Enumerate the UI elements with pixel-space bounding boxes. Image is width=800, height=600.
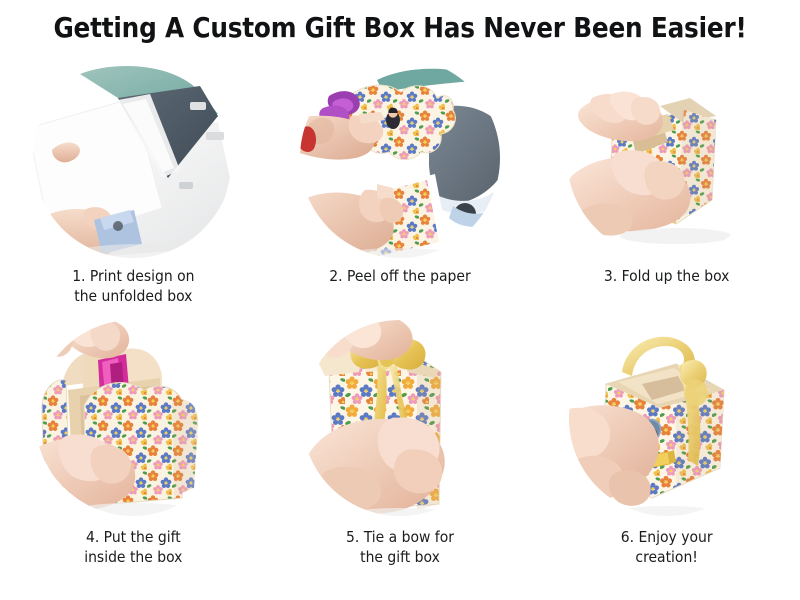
step-caption-3: 3. Fold up the box xyxy=(559,267,774,287)
step-card-6: 6. Enjoy your creation! xyxy=(533,320,800,582)
caption-line-2: creation! xyxy=(559,548,774,568)
caption-line-1: 2. Peel off the paper xyxy=(329,267,471,285)
step-card-5: 5. Tie a bow for the gift box xyxy=(267,320,534,582)
step-caption-2: 2. Peel off the paper xyxy=(292,267,507,287)
step-image-5 xyxy=(289,320,511,520)
caption-line-2: inside the box xyxy=(26,548,241,568)
caption-line-1: 1. Print design on xyxy=(72,267,194,285)
caption-line-2: the unfolded box xyxy=(26,287,241,307)
step-caption-1: 1. Print design on the unfolded box xyxy=(26,267,241,306)
caption-line-2: the gift box xyxy=(292,548,507,568)
step-caption-5: 5. Tie a bow for the gift box xyxy=(292,528,507,567)
step-card-1: 1. Print design on the unfolded box xyxy=(0,58,267,320)
step-card-3: 3. Fold up the box xyxy=(533,58,800,320)
infographic-page: Getting A Custom Gift Box Has Never Been… xyxy=(0,0,800,600)
step-image-2 xyxy=(289,58,511,263)
caption-line-1: 6. Enjoy your xyxy=(621,528,713,546)
step-image-3 xyxy=(556,58,778,263)
steps-grid: 1. Print design on the unfolded box xyxy=(0,58,800,598)
step-image-6 xyxy=(556,320,778,520)
step-caption-6: 6. Enjoy your creation! xyxy=(559,528,774,567)
caption-line-1: 4. Put the gift xyxy=(86,528,181,546)
step-image-1 xyxy=(22,58,244,263)
caption-line-1: 3. Fold up the box xyxy=(604,267,729,285)
page-title: Getting A Custom Gift Box Has Never Been… xyxy=(0,12,800,44)
caption-line-1: 5. Tie a bow for xyxy=(346,528,454,546)
step-caption-4: 4. Put the gift inside the box xyxy=(26,528,241,567)
step-card-2: 2. Peel off the paper xyxy=(267,58,534,320)
step-card-4: 4. Put the gift inside the box xyxy=(0,320,267,582)
step-image-4 xyxy=(22,320,244,520)
